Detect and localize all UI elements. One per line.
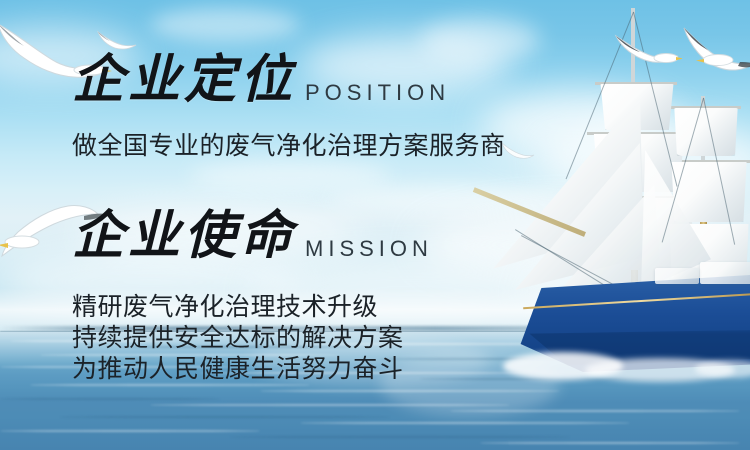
ship-deck-detail [655, 268, 699, 284]
mission-headline: 企业使命 [72, 208, 296, 266]
ship-deck-detail [700, 262, 750, 284]
sea-ripple [0, 430, 260, 432]
seagull-icon [612, 28, 682, 76]
position-headline: 企业定位 [72, 52, 296, 110]
banner-root: 企业定位 POSITION 做全国专业的废气净化治理方案服务商 企业使命 MIS… [0, 0, 750, 450]
mission-en-label: MISSION [305, 236, 433, 262]
sea-ripple [60, 416, 390, 418]
position-en-label: POSITION [305, 80, 450, 106]
seagull-icon [678, 22, 750, 80]
sea-ripple [0, 398, 220, 400]
cloud-shape [190, 160, 390, 190]
seagull-icon [96, 28, 138, 54]
mission-line: 为推动人民健康生活努力奋斗 [72, 349, 404, 385]
position-subtitle: 做全国专业的废气净化治理方案服务商 [72, 126, 506, 162]
cloud-shape [150, 8, 300, 42]
